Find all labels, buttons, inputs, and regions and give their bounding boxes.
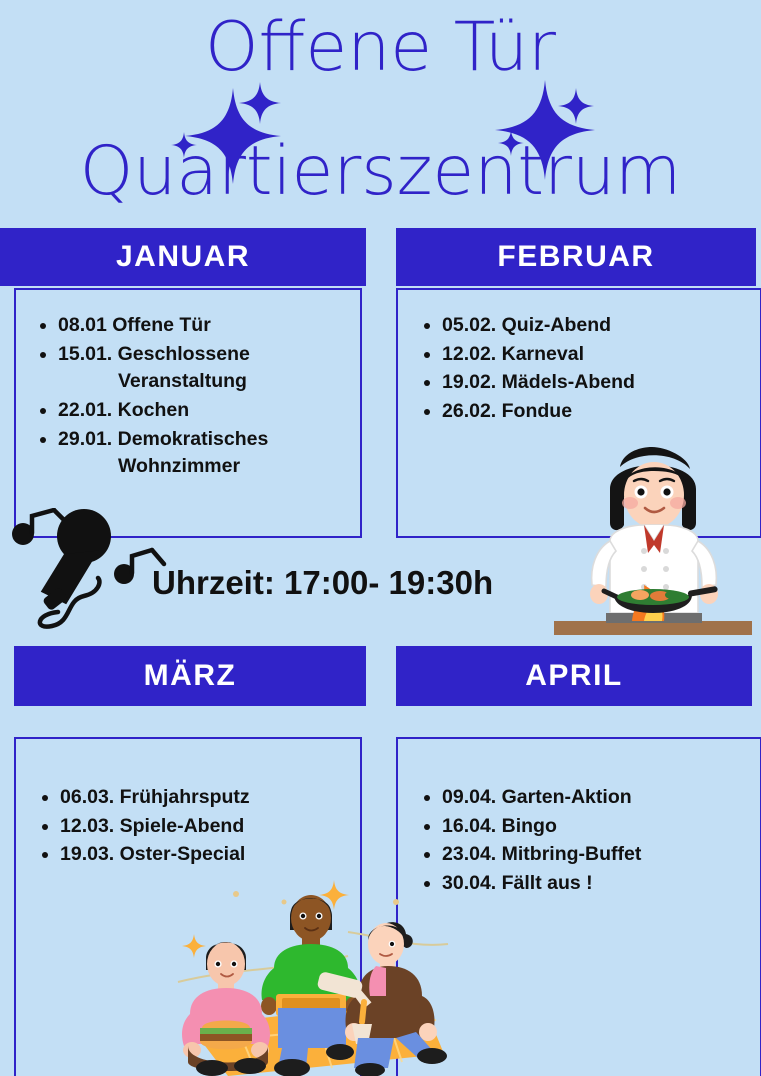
month-header-april: APRIL (396, 646, 752, 706)
page-title-line-2: Quartierszentrum (0, 138, 761, 206)
month-header-februar: FEBRUAR (396, 228, 756, 286)
sparkle-icon (558, 88, 594, 124)
month-header-januar: JANUAR (0, 228, 366, 286)
poster-title-area: Offene Tür Quartierszentrum (0, 0, 761, 222)
page-title-line-1: Offene Tür (0, 14, 761, 82)
time-note: Uhrzeit: 17:00- 19:30h (152, 564, 493, 602)
month-body-januar (14, 288, 362, 538)
month-header-maerz: MÄRZ (14, 646, 366, 706)
friends-picnic-illustration (172, 872, 452, 1076)
sparkle-icon (239, 82, 281, 124)
poster-root: Offene Tür Quartierszentrum (0, 0, 761, 1076)
chef-cooking-illustration (548, 445, 758, 640)
microphone-icon (6, 508, 171, 633)
